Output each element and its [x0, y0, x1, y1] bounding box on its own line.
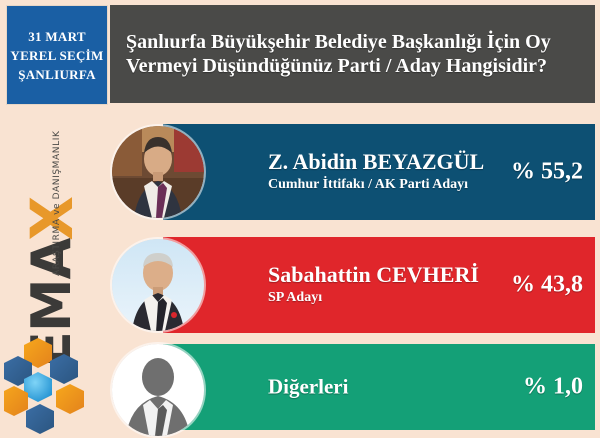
result-row: Diğerleri % 1,0 [0, 344, 600, 430]
candidate-info-2: Sabahattin CEVHERİ SP Adayı [268, 263, 479, 307]
result-bar-3: Diğerleri % 1,0 [163, 344, 595, 430]
result-percentage: % 43,8 [511, 272, 583, 299]
candidate-info-3: Diğerleri [268, 376, 348, 399]
candidate-photo-cevheri [112, 239, 204, 331]
badge-line-date: 31 MART [28, 30, 86, 43]
candidate-party: Cumhur İttifakı / AK Parti Adayı [268, 177, 484, 194]
poll-infographic: 31 MART YEREL SEÇİM ŞANLIURFA Şanlıurfa … [0, 0, 600, 438]
result-row: Sabahattin CEVHERİ SP Adayı % 43,8 [0, 237, 600, 333]
generic-person-silhouette [112, 344, 204, 436]
result-row: Z. Abidin BEYAZGÜL Cumhur İttifakı / AK … [0, 124, 600, 220]
election-date-badge: 31 MART YEREL SEÇİM ŞANLIURFA [6, 5, 108, 105]
candidate-party: SP Adayı [268, 290, 479, 307]
result-percentage: % 55,2 [511, 159, 583, 186]
result-bar-2: Sabahattin CEVHERİ SP Adayı % 43,8 [163, 237, 595, 333]
question-text: Şanlıurfa Büyükşehir Belediye Başkanlığı… [110, 30, 595, 79]
candidate-name: Diğerleri [268, 376, 348, 399]
result-bar-1: Z. Abidin BEYAZGÜL Cumhur İttifakı / AK … [163, 124, 595, 220]
badge-line-election: YEREL SEÇİM [10, 49, 103, 62]
candidate-photo-beyazgul [112, 126, 204, 218]
candidate-name: Sabahattin CEVHERİ [268, 263, 479, 287]
question-header: Şanlıurfa Büyükşehir Belediye Başkanlığı… [110, 5, 595, 103]
result-percentage: % 1,0 [523, 374, 583, 401]
candidate-name: Z. Abidin BEYAZGÜL [268, 150, 484, 174]
badge-line-city: ŞANLIURFA [18, 68, 96, 81]
candidate-info-1: Z. Abidin BEYAZGÜL Cumhur İttifakı / AK … [268, 150, 484, 194]
